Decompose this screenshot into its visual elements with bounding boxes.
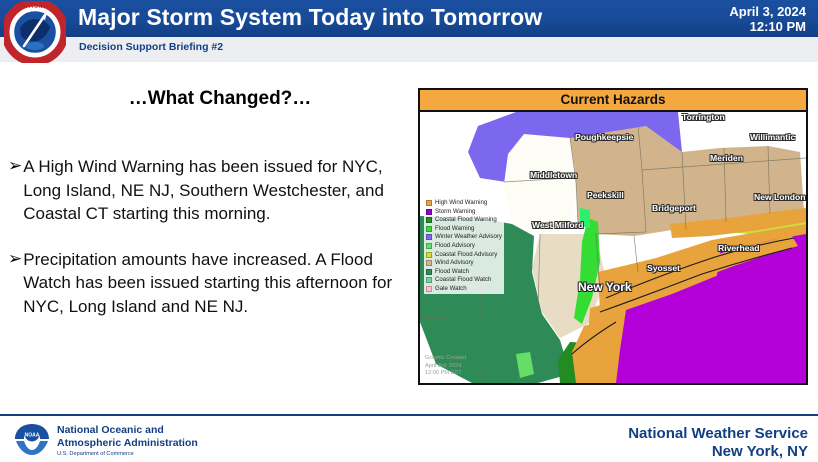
map-city-label: Meriden	[710, 153, 743, 163]
map-city-label: Bridgeport	[652, 203, 696, 213]
legend-label: Flood Watch	[435, 268, 469, 276]
map-city-label: Syosset	[647, 263, 680, 273]
svg-text:NOAA: NOAA	[25, 433, 40, 439]
legend-swatch-icon	[426, 277, 432, 283]
legend-item: Winter Weather Advisory	[426, 233, 502, 241]
map-credit-line3: 12:00 PM EDT	[425, 370, 466, 377]
map-credit: Graphic Created April 3rd, 2024 12:00 PM…	[425, 355, 466, 377]
list-item: ➢ A High Wind Warning has been issued fo…	[8, 155, 412, 226]
bullet-text: A High Wind Warning has been issued for …	[23, 155, 412, 226]
noaa-line-2: Atmospheric Administration	[57, 437, 198, 450]
nws-seal-icon: N A T I O N A L	[4, 1, 66, 63]
bullet-arrow-icon: ➢	[8, 155, 22, 177]
map-city-label: West Milford	[532, 220, 583, 230]
header-date: April 3, 2024	[729, 4, 806, 19]
bullet-arrow-icon: ➢	[8, 248, 22, 270]
map-city-label: Peekskill	[587, 190, 624, 200]
legend-item: Flood Advisory	[426, 242, 502, 250]
footer-office-location: New York, NY	[628, 443, 808, 461]
legend-label: Gale Watch	[435, 285, 467, 293]
legend-item: Flood Watch	[426, 268, 502, 276]
legend-label: Flood Warning	[435, 225, 474, 233]
map-city-label: New London	[754, 192, 806, 202]
list-item: ➢ Precipitation amounts have increased. …	[8, 248, 412, 319]
noaa-agency-text: National Oceanic and Atmospheric Adminis…	[57, 424, 198, 459]
legend-swatch-icon	[426, 243, 432, 249]
page-title: Major Storm System Today into Tomorrow	[78, 4, 638, 31]
legend-label: High Wind Warning	[435, 199, 487, 207]
map-legend: High Wind Warning Storm Warning Coastal …	[424, 198, 504, 294]
svg-text:N A T I O N A L: N A T I O N A L	[20, 4, 51, 9]
legend-label: Wind Advisory	[435, 259, 474, 267]
content-heading: …What Changed?…	[40, 88, 400, 110]
legend-label: Winter Weather Advisory	[435, 233, 502, 241]
map-city-label: Torrington	[682, 112, 725, 122]
legend-item: Gale Watch	[426, 285, 502, 293]
legend-swatch-icon	[426, 252, 432, 258]
map-title: Current Hazards	[420, 90, 806, 112]
legend-swatch-icon	[426, 217, 432, 223]
legend-item: Coastal Flood Warning	[426, 216, 502, 224]
legend-swatch-icon	[426, 260, 432, 266]
legend-label: Coastal Flood Warning	[435, 216, 497, 224]
legend-swatch-icon	[426, 209, 432, 215]
map-city-label: Willimantic	[750, 132, 795, 142]
legend-item: Coastal Flood Watch	[426, 276, 502, 284]
hazards-map-panel: Current Hazards	[418, 88, 808, 385]
legend-swatch-icon	[426, 226, 432, 232]
legend-item: Wind Advisory	[426, 259, 502, 267]
map-city-label: New York	[578, 280, 632, 294]
legend-label: Coastal Flood Advisory	[435, 251, 497, 259]
bullet-text: Precipitation amounts have increased. A …	[23, 248, 412, 319]
header-time: 12:10 PM	[729, 19, 806, 34]
legend-swatch-icon	[426, 269, 432, 275]
noaa-line-3: U.S. Department of Commerce	[57, 450, 198, 459]
legend-item: Flood Warning	[426, 225, 502, 233]
legend-swatch-icon	[426, 200, 432, 206]
legend-item: High Wind Warning	[426, 199, 502, 207]
legend-swatch-icon	[426, 234, 432, 240]
legend-label: Storm Warning	[435, 208, 475, 216]
map-credit-line2: April 3rd, 2024	[425, 363, 466, 370]
map-city-label: Riverhead	[718, 243, 760, 253]
legend-item: Storm Warning	[426, 208, 502, 216]
bullet-list: ➢ A High Wind Warning has been issued fo…	[8, 155, 412, 340]
legend-item: Coastal Flood Advisory	[426, 250, 502, 258]
map-credit-line1: Graphic Created	[425, 355, 466, 362]
legend-label: Flood Advisory	[435, 242, 475, 250]
briefing-subtitle: Decision Support Briefing #2	[79, 41, 223, 53]
legend-label: Coastal Flood Watch	[435, 276, 491, 284]
map-city-label: Poughkeepsie	[575, 132, 633, 142]
noaa-line-1: National Oceanic and	[57, 424, 198, 437]
noaa-seal-icon: NOAA	[12, 421, 52, 457]
footer-office-name: National Weather Service	[628, 425, 808, 443]
header-divider	[0, 62, 818, 64]
map-city-label: Middletown	[530, 170, 577, 180]
footer-office: National Weather Service New York, NY	[628, 425, 808, 461]
header-datetime: April 3, 2024 12:10 PM	[729, 4, 806, 34]
legend-swatch-icon	[426, 286, 432, 292]
